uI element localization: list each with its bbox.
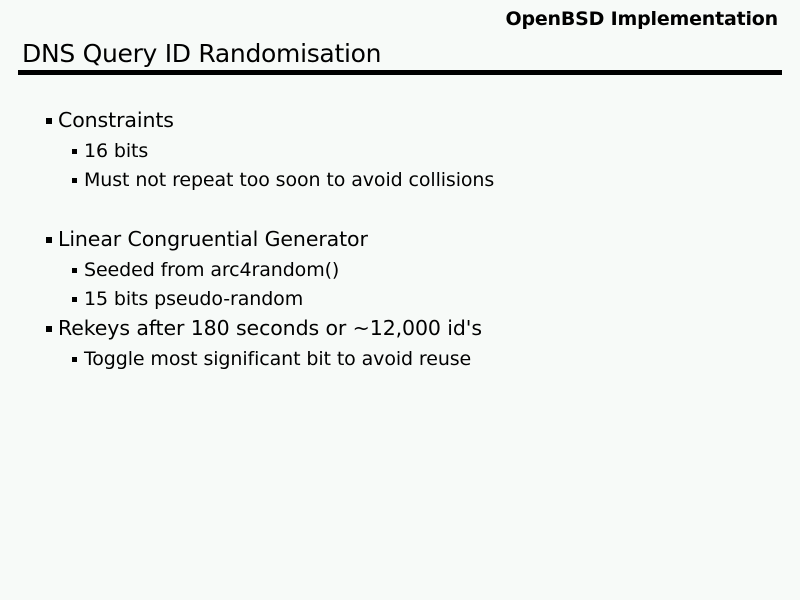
bullet-square-icon [46,118,52,124]
list-item-label: 16 bits [84,139,148,163]
bullet-square-icon [72,357,77,362]
slide: OpenBSD Implementation DNS Query ID Rand… [0,0,800,600]
list-item: Must not repeat too soon to avoid collis… [0,168,800,197]
page-title: DNS Query ID Randomisation [22,39,381,69]
bullet-block-lcg: Linear Congruential Generator Seeded fro… [0,227,800,376]
list-item: Constraints [0,108,800,139]
bullet-block-constraints: Constraints 16 bits Must not repeat too … [0,108,800,197]
bullet-square-icon [46,326,52,332]
list-item: Seeded from arc4random() [0,258,800,287]
list-item: Linear Congruential Generator [0,227,800,258]
slide-body: Constraints 16 bits Must not repeat too … [0,108,800,600]
bullet-square-icon [72,297,77,302]
list-item-label: Constraints [58,108,174,133]
list-item-label: Rekeys after 180 seconds or ~12,000 id's [58,316,482,341]
list-item: Toggle most significant bit to avoid reu… [0,347,800,376]
list-item: 16 bits [0,139,800,168]
list-item-label: Seeded from arc4random() [84,258,339,282]
bullet-square-icon [72,178,77,183]
list-item: 15 bits pseudo-random [0,287,800,316]
slide-header-label: OpenBSD Implementation [18,8,778,30]
list-item-label: Toggle most significant bit to avoid reu… [84,347,471,371]
block-spacer [0,197,800,227]
bullet-square-icon [46,237,52,243]
list-item-label: Linear Congruential Generator [58,227,368,252]
list-item-label: Must not repeat too soon to avoid collis… [84,168,494,192]
bullet-square-icon [72,149,77,154]
list-item: Rekeys after 180 seconds or ~12,000 id's [0,316,800,347]
bullet-square-icon [72,268,77,273]
list-item-label: 15 bits pseudo-random [84,287,303,311]
title-divider [18,70,782,75]
